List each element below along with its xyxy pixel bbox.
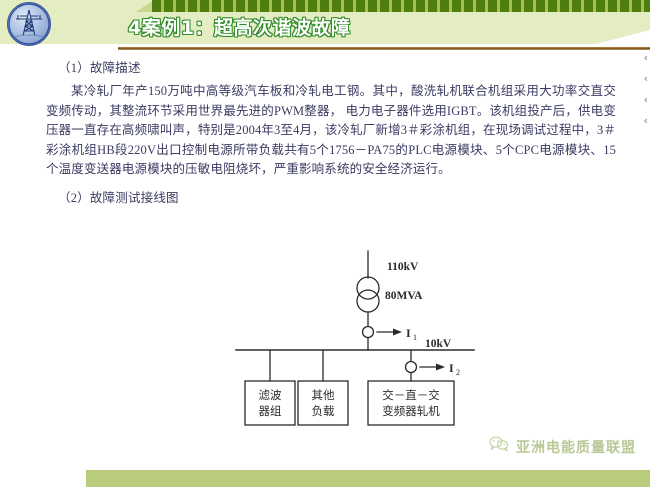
chevron-left-icon-2[interactable]: ‹ — [644, 73, 648, 84]
label-10kv: 10kV — [425, 338, 452, 350]
page-title: 4案例1：超高次谐波故障 — [128, 13, 350, 40]
label-current-2: I — [449, 361, 454, 375]
label-current-2-subscript: 2 — [456, 368, 460, 377]
section-label-test-wiring-diagram: （2）故障测试接线图 — [58, 188, 616, 208]
label-current-1: I — [406, 326, 411, 340]
slide-body: （1）故障描述 某冷轧厂年产150万吨中高等级汽车板和冷轧电工钢。其中，酸洗轧机… — [46, 58, 616, 208]
i1-arrow-head — [393, 329, 402, 336]
footer-bar — [0, 470, 650, 487]
load-box-other — [298, 381, 348, 425]
load-box-mill-line2: 变频器轧机 — [382, 404, 440, 418]
watermark: 亚洲电能质量联盟 — [489, 436, 636, 457]
chevron-left-icon-1[interactable]: ‹ — [644, 52, 648, 63]
load-box-mill — [368, 381, 454, 425]
chevron-left-icon-3[interactable]: ‹ — [644, 94, 648, 105]
load-box-other-line1: 其他 — [312, 389, 335, 402]
slide-header: 4案例1：超高次谐波故障 — [0, 0, 650, 48]
power-tower-emblem-icon — [7, 2, 51, 46]
load-box-filter — [245, 381, 295, 425]
current-transformer-1 — [363, 327, 374, 338]
i2-arrow-head — [436, 364, 445, 371]
watermark-text: 亚洲电能质量联盟 — [516, 437, 636, 457]
transformer-winding-primary — [357, 277, 379, 299]
current-transformer-2 — [406, 362, 417, 373]
header-dash-strip — [152, 0, 650, 12]
load-box-other-line2: 负载 — [312, 404, 335, 418]
slide-canvas: 4案例1：超高次谐波故障 ‹ ‹ ‹ ‹ （1）故障描述 某冷轧厂年产150万吨… — [0, 0, 650, 487]
fault-test-wiring-diagram: 110kV 80MVA I 1 10kV I 2 滤波 器组 其他 负载 交－直… — [220, 248, 510, 433]
load-box-filter-line1: 滤波 — [259, 389, 282, 402]
chevron-left-icon-4[interactable]: ‹ — [644, 115, 648, 126]
load-box-filter-line2: 器组 — [259, 404, 282, 418]
section-label-fault-description: （1）故障描述 — [58, 58, 616, 78]
label-110kv: 110kV — [387, 261, 419, 273]
transformer-winding-secondary — [357, 290, 379, 312]
paragraph-fault-description: 某冷轧厂年产150万吨中高等级汽车板和冷轧电工钢。其中，酸洗轧机联合机组采用大功… — [46, 82, 616, 180]
edge-chevron-marks: ‹ ‹ ‹ ‹ — [644, 52, 648, 126]
wechat-icon — [489, 436, 509, 457]
label-80mva: 80MVA — [385, 290, 423, 302]
label-current-1-subscript: 1 — [413, 333, 417, 342]
footer-bar-left-gap — [0, 470, 86, 487]
load-box-mill-line1: 交－直－交 — [382, 388, 440, 402]
header-divider — [118, 47, 650, 50]
